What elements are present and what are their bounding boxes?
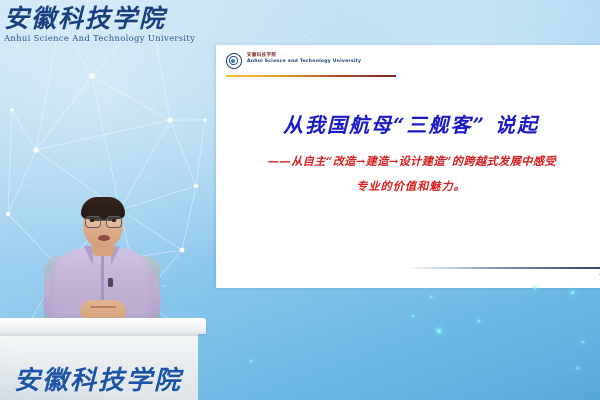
video-frame: 安徽科技学院 Anhui Science And Technology Univ…	[0, 0, 600, 400]
frame-vignette	[0, 0, 600, 400]
